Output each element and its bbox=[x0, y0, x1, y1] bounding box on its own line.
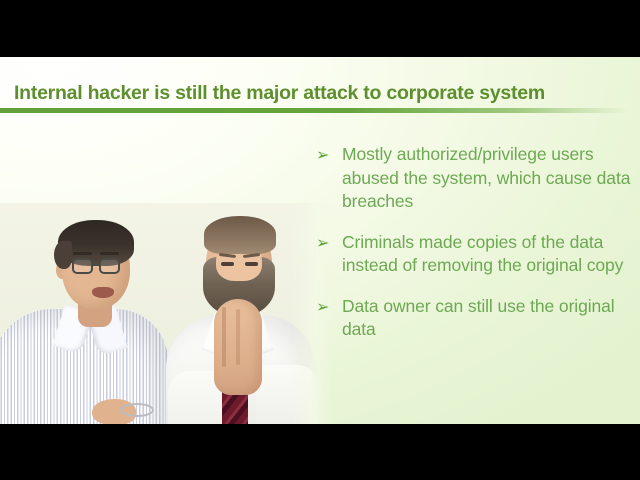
bullet-text: Data owner can still use the original da… bbox=[342, 295, 634, 342]
arrow-bullet-icon: ➢ bbox=[316, 231, 342, 278]
arrow-bullet-icon: ➢ bbox=[316, 143, 342, 214]
list-item: ➢ Criminals made copies of the data inst… bbox=[316, 231, 634, 278]
person-left-eyeglass-right bbox=[99, 258, 120, 274]
list-item: ➢ Data owner can still use the original … bbox=[316, 295, 634, 342]
bullet-text: Mostly authorized/privilege users abused… bbox=[342, 143, 634, 214]
slide-canvas: Internal hacker is still the major attac… bbox=[0, 57, 640, 424]
person-left-mouth bbox=[92, 287, 114, 298]
person-left-held-object bbox=[120, 403, 154, 417]
person-right-eye-left bbox=[221, 262, 234, 266]
person-right-finger-2 bbox=[236, 309, 240, 365]
bullet-text: Criminals made copies of the data instea… bbox=[342, 231, 634, 278]
bullet-list: ➢ Mostly authorized/privilege users abus… bbox=[316, 143, 634, 359]
person-right-hair bbox=[204, 216, 276, 254]
title-underline-rule bbox=[0, 108, 628, 113]
person-right-eye-right bbox=[245, 262, 258, 266]
person-left-eyebrow-right bbox=[100, 252, 119, 255]
letterbox-bottom-bar bbox=[0, 424, 640, 480]
person-right-finger-1 bbox=[222, 307, 226, 367]
person-left-eyeglass-left bbox=[72, 258, 93, 274]
person-left-eyeglass-bridge bbox=[93, 264, 99, 266]
arrow-bullet-icon: ➢ bbox=[316, 295, 342, 342]
letterbox-top-bar bbox=[0, 0, 640, 57]
panel-photo bbox=[0, 203, 336, 424]
video-frame: Internal hacker is still the major attac… bbox=[0, 0, 640, 480]
person-left-sideburn bbox=[54, 241, 72, 269]
person-left-eyebrow-left bbox=[73, 252, 92, 255]
list-item: ➢ Mostly authorized/privilege users abus… bbox=[316, 143, 634, 214]
page-title: Internal hacker is still the major attac… bbox=[14, 82, 545, 105]
